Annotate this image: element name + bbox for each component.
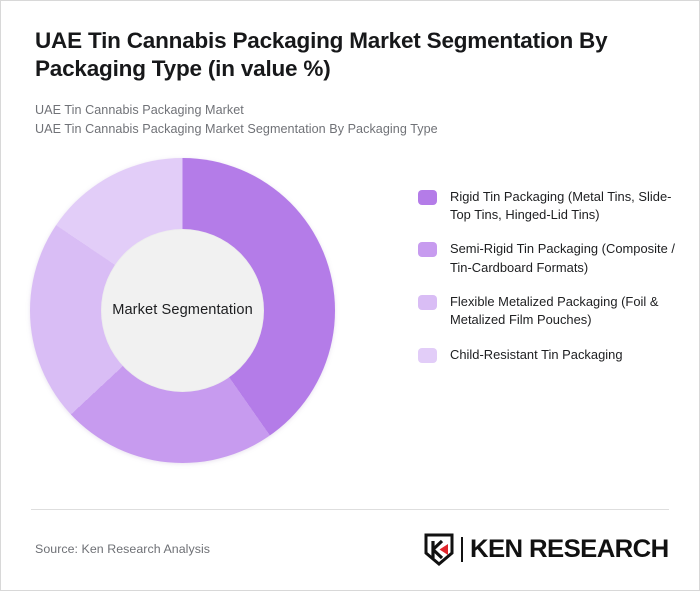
legend-item[interactable]: Rigid Tin Packaging (Metal Tins, Slide-T…	[418, 188, 676, 225]
legend-swatch-icon	[418, 295, 437, 310]
legend-item-label: Flexible Metalized Packaging (Foil & Met…	[450, 293, 676, 330]
chart-header: UAE Tin Cannabis Packaging Market Segmen…	[1, 1, 699, 140]
chart-footer: Source: Ken Research Analysis KEN RESEAR…	[35, 529, 669, 569]
donut-hole: Market Segmentation	[101, 229, 264, 392]
legend-item-label: Rigid Tin Packaging (Metal Tins, Slide-T…	[450, 188, 676, 225]
ken-research-logo: KEN RESEARCH	[424, 533, 663, 566]
subtitle-segmentation: UAE Tin Cannabis Packaging Market Segmen…	[35, 120, 665, 140]
subtitle-market: UAE Tin Cannabis Packaging Market	[35, 101, 665, 121]
legend-item-label: Child-Resistant Tin Packaging	[450, 346, 623, 364]
subtitle-group: UAE Tin Cannabis Packaging Market UAE Ti…	[35, 101, 665, 140]
ken-research-mark-icon	[424, 533, 454, 566]
legend-swatch-icon	[418, 190, 437, 205]
chart-card: UAE Tin Cannabis Packaging Market Segmen…	[0, 0, 700, 591]
legend-item[interactable]: Semi-Rigid Tin Packaging (Composite / Ti…	[418, 240, 676, 277]
donut-chart: Market Segmentation	[30, 158, 335, 463]
legend-item[interactable]: Child-Resistant Tin Packaging	[418, 346, 676, 364]
footer-divider	[31, 509, 669, 510]
page-title: UAE Tin Cannabis Packaging Market Segmen…	[35, 27, 660, 84]
legend-swatch-icon	[418, 348, 437, 363]
legend-item-label: Semi-Rigid Tin Packaging (Composite / Ti…	[450, 240, 676, 277]
legend-item[interactable]: Flexible Metalized Packaging (Foil & Met…	[418, 293, 676, 330]
chart-body: Market Segmentation Rigid Tin Packaging …	[1, 140, 699, 470]
source-note: Source: Ken Research Analysis	[35, 542, 210, 556]
logo-wordmark: KEN RESEARCH	[470, 535, 669, 564]
logo-divider	[461, 537, 463, 562]
donut-center-label: Market Segmentation	[112, 302, 253, 318]
chart-legend: Rigid Tin Packaging (Metal Tins, Slide-T…	[418, 188, 676, 364]
legend-swatch-icon	[418, 242, 437, 257]
